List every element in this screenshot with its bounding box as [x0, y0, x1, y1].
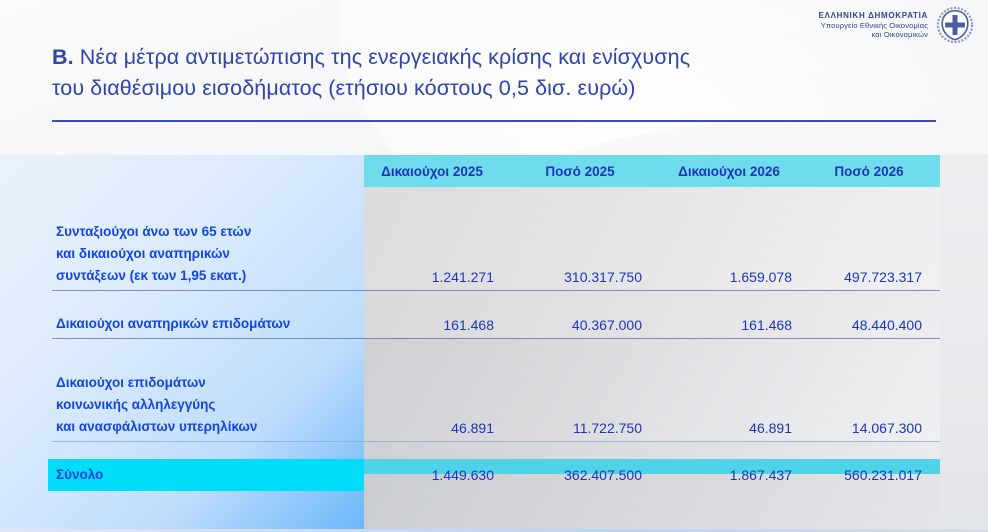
row-separator — [52, 290, 940, 291]
total-beneficiaries-2025: 1.449.630 — [364, 459, 512, 491]
title-divider — [52, 120, 936, 122]
table-total-row: Σύνολο 1.449.630 362.407.500 1.867.437 5… — [0, 459, 940, 491]
right-margin-strip — [940, 155, 988, 532]
slide-title: Β. Νέα μέτρα αντιμετώπισης της ενεργειακ… — [52, 42, 852, 103]
table-row: Δικαιούχοι επιδομάτων κοινωνικής αλληλεγ… — [0, 338, 940, 441]
cell-beneficiaries-2025: 1.241.271 — [364, 187, 512, 290]
row-label: Δικαιούχοι αναπηρικών επιδομάτων — [0, 290, 364, 338]
total-label-text: Σύνολο — [56, 464, 103, 486]
title-line-2: του διαθέσιμου εισοδήματος (ετήσιου κόστ… — [52, 76, 636, 100]
cell-amount-2026: 497.723.317 — [810, 187, 940, 290]
measures-table: Δικαιούχοι 2025 Ποσό 2025 Δικαιούχοι 202… — [0, 155, 940, 491]
logo-ministry-line2: και Οικονομικών — [819, 30, 929, 39]
cell-beneficiaries-2026: 1.659.078 — [660, 187, 810, 290]
cell-beneficiaries-2026: 161.468 — [660, 290, 810, 338]
row-label-line: Δικαιούχοι επιδομάτων — [56, 375, 206, 390]
spacer-background — [364, 441, 940, 459]
cell-beneficiaries-2025: 161.468 — [364, 290, 512, 338]
total-label: Σύνολο — [0, 459, 364, 491]
logo-republic-line: ΕΛΛΗΝΙΚΗ ΔΗΜΟΚΡΑΤΙΑ — [819, 11, 929, 21]
logo-ministry-line1: Υπουργείο Εθνικής Οικονομίας — [819, 21, 929, 30]
row-label-line: και δικαιούχοι αναπηρικών — [56, 246, 230, 261]
header-cell-beneficiaries-2026: Δικαιούχοι 2026 — [660, 155, 810, 187]
total-amount-2026: 560.231.017 — [810, 459, 940, 491]
title-line-1: Νέα μέτρα αντιμετώπισης της ενεργειακής … — [74, 45, 690, 69]
cell-amount-2026: 14.067.300 — [810, 338, 940, 441]
slide-canvas: ΕΛΛΗΝΙΚΗ ΔΗΜΟΚΡΑΤΙΑ Υπουργείο Εθνικής Οι… — [0, 0, 988, 532]
cell-amount-2026: 48.440.400 — [810, 290, 940, 338]
cell-amount-2025: 310.317.750 — [512, 187, 660, 290]
title-marker: Β. — [52, 45, 74, 69]
row-label: Δικαιούχοι επιδομάτων κοινωνικής αλληλεγ… — [0, 338, 364, 441]
table-row: Δικαιούχοι αναπηρικών επιδομάτων 161.468… — [0, 290, 940, 338]
row-separator — [52, 441, 940, 442]
greek-coat-of-arms-icon — [936, 6, 974, 44]
row-label-line: συντάξεων (εκ των 1,95 εκατ.) — [56, 268, 246, 283]
table-row: Συνταξιούχοι άνω των 65 ετών και δικαιού… — [0, 187, 940, 290]
ministry-logo-text: ΕΛΛΗΝΙΚΗ ΔΗΜΟΚΡΑΤΙΑ Υπουργείο Εθνικής Οι… — [819, 11, 929, 40]
row-label-line: Συνταξιούχοι άνω των 65 ετών — [56, 224, 251, 239]
cell-amount-2025: 11.722.750 — [512, 338, 660, 441]
header-cell-amount-2026: Ποσό 2026 — [810, 155, 940, 187]
total-spacer — [0, 441, 940, 459]
ministry-logo-block: ΕΛΛΗΝΙΚΗ ΔΗΜΟΚΡΑΤΙΑ Υπουργείο Εθνικής Οι… — [819, 6, 975, 44]
table-header-row: Δικαιούχοι 2025 Ποσό 2025 Δικαιούχοι 202… — [0, 155, 940, 187]
total-amount-2025: 362.407.500 — [512, 459, 660, 491]
total-beneficiaries-2026: 1.867.437 — [660, 459, 810, 491]
row-label: Συνταξιούχοι άνω των 65 ετών και δικαιού… — [0, 187, 364, 290]
row-label-line: κοινωνικής αλληλεγγύης — [56, 397, 215, 412]
row-label-line: και ανασφάλιστων υπερηλίκων — [56, 419, 257, 434]
header-cell-amount-2025: Ποσό 2025 — [512, 155, 660, 187]
row-separator — [52, 338, 940, 339]
cell-amount-2025: 40.367.000 — [512, 290, 660, 338]
header-cell-beneficiaries-2025: Δικαιούχοι 2025 — [364, 155, 512, 187]
header-cell-blank — [0, 155, 364, 187]
cell-beneficiaries-2026: 46.891 — [660, 338, 810, 441]
row-label-line: Δικαιούχοι αναπηρικών επιδομάτων — [56, 316, 290, 331]
cell-beneficiaries-2025: 46.891 — [364, 338, 512, 441]
